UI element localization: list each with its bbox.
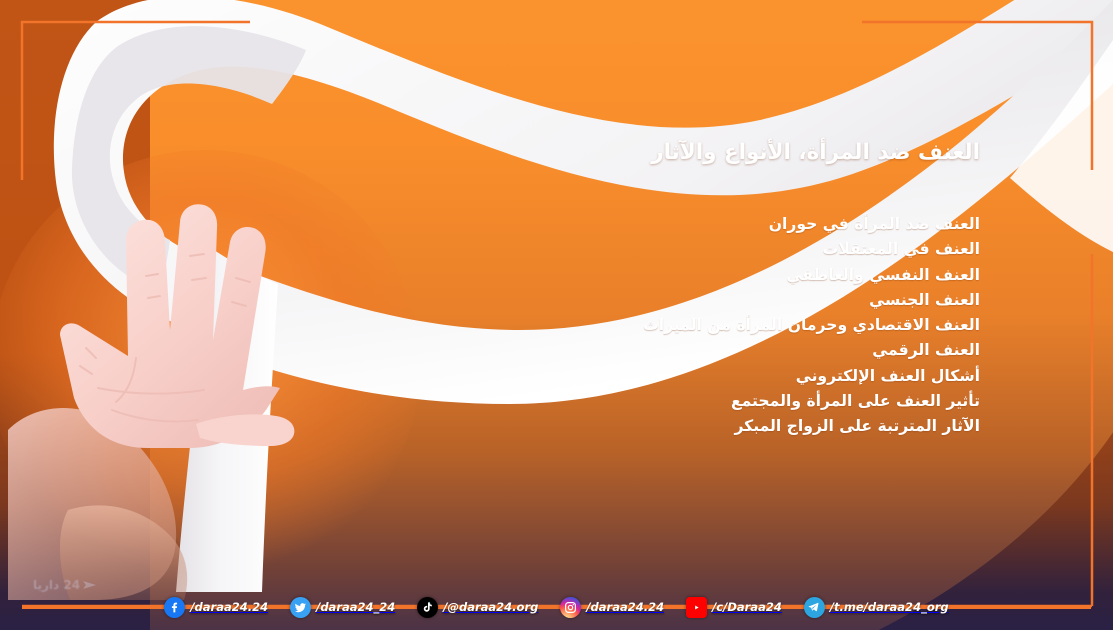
instagram-icon (560, 597, 581, 618)
list-item: العنف النفسي والعاطفي (340, 263, 980, 288)
social-handle: /daraa24_24 (316, 600, 395, 614)
social-link-twitter[interactable]: /daraa24_24 (290, 597, 395, 618)
list-item: العنف الاقتصادي وحرمان المرأة من الميراث (340, 313, 980, 338)
poster-canvas: العنف ضد المرأة، الأنواع والآثار العنف ض… (0, 0, 1113, 630)
social-link-facebook[interactable]: /daraa24.24 (164, 597, 268, 618)
social-handle: /daraa24.24 (190, 600, 268, 614)
list-item: أشكال العنف الإلكتروني (340, 364, 980, 389)
social-handle: /c/Daraa24 (712, 600, 782, 614)
list-item: العنف الرقمي (340, 338, 980, 363)
social-handle: /t.me/daraa24_org (830, 600, 949, 614)
tiktok-icon (417, 597, 438, 618)
social-links-bar: /daraa24.24 /daraa24_24 /@daraa24.org (0, 588, 1113, 626)
social-link-telegram[interactable]: /t.me/daraa24_org (804, 597, 949, 618)
list-item: العنف الجنسي (340, 288, 980, 313)
telegram-icon (804, 597, 825, 618)
list-item: تأثير العنف على المرأة والمجتمع (340, 389, 980, 414)
topics-list: العنف ضد المرأة في حوران العنف في المعتق… (340, 212, 980, 440)
twitter-icon (290, 597, 311, 618)
list-item: الآثار المترتبة على الزواج المبكر (340, 414, 980, 439)
facebook-icon (164, 597, 185, 618)
social-link-youtube[interactable]: /c/Daraa24 (686, 597, 782, 618)
list-item: العنف في المعتقلات (340, 237, 980, 262)
social-handle: /@daraa24.org (443, 600, 538, 614)
social-link-instagram[interactable]: /daraa24.24 (560, 597, 664, 618)
list-item: العنف ضد المرأة في حوران (340, 212, 980, 237)
social-link-tiktok[interactable]: /@daraa24.org (417, 597, 538, 618)
page-title: العنف ضد المرأة، الأنواع والآثار (651, 140, 980, 165)
youtube-icon (686, 597, 707, 618)
social-handle: /daraa24.24 (586, 600, 664, 614)
